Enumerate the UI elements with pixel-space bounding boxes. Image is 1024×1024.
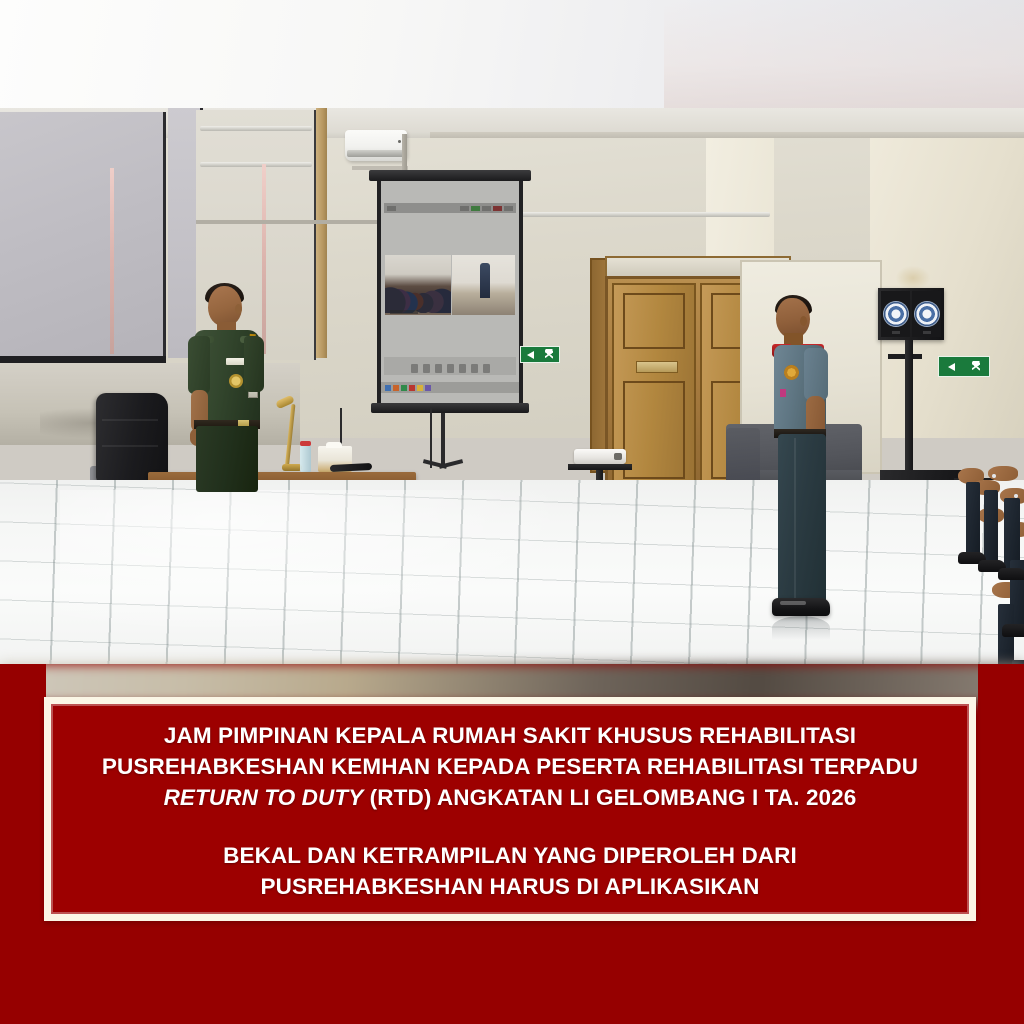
speaker-port — [892, 331, 900, 334]
vc-control-icon — [459, 364, 466, 373]
bottle-cap — [300, 441, 311, 446]
speaker-driver-icon — [915, 302, 939, 326]
microphone-base — [282, 464, 302, 471]
officer-sleeve-left — [188, 336, 210, 394]
door-panel — [623, 381, 685, 479]
whiteboard — [0, 112, 166, 358]
army-officer — [186, 286, 270, 491]
exit-arrow-icon — [527, 351, 534, 359]
projector — [574, 449, 626, 464]
vc-control-icon — [411, 364, 418, 373]
blind-rail — [200, 162, 312, 167]
door-push-plate[interactable] — [636, 361, 678, 373]
caption-line-3: RETURN TO DUTY (RTD) ANGKATAN LI GELOMBA… — [164, 782, 857, 813]
officer-trousers — [778, 434, 826, 602]
caption-line-4: BEKAL DAN KETRAMPILAN YANG DIPEROLEH DAR… — [223, 840, 797, 871]
vc-control-icon — [423, 364, 430, 373]
presenter-figure — [480, 263, 490, 298]
participant-shoe — [1002, 624, 1024, 637]
vc-badge — [504, 206, 513, 211]
running-man-icon — [545, 349, 553, 360]
caption-line-1: JAM PIMPINAN KEPALA RUMAH SAKIT KHUSUS R… — [164, 720, 856, 751]
speaker-stand-pole — [905, 340, 913, 470]
poster-root: JAM PIMPINAN KEPALA RUMAH SAKIT KHUSUS R… — [0, 0, 1024, 1024]
footer-red-band — [0, 921, 1024, 1024]
participant-ring — [992, 474, 996, 478]
taskbar-app-icon — [401, 385, 407, 391]
caption-inner-frame: JAM PIMPINAN KEPALA RUMAH SAKIT KHUSUS R… — [51, 704, 969, 914]
wooden-post — [316, 108, 327, 358]
vc-badge — [460, 206, 469, 211]
vc-badge-green — [471, 206, 480, 211]
header-gradient — [664, 0, 1024, 108]
vc-pane-audience — [385, 255, 451, 315]
ac-indicator-led — [398, 140, 401, 143]
caption-line-5: PUSREHABKESHAN HARUS DI APLIKASIKAN — [261, 871, 760, 902]
air-conditioner — [345, 130, 407, 161]
ac-vent — [347, 150, 405, 157]
event-photograph — [0, 108, 1024, 664]
speaker-cabinet — [881, 291, 910, 337]
projection-screen — [375, 170, 525, 420]
vc-badge — [482, 206, 491, 211]
speaker-driver-icon — [884, 302, 908, 326]
exit-sign — [938, 356, 990, 377]
unit-patch — [784, 365, 799, 380]
wall-stain — [896, 266, 930, 290]
vc-toolbar-bottom — [384, 357, 516, 375]
caption-italic-term: RETURN TO DUTY — [164, 785, 364, 810]
header-bar — [0, 0, 1024, 108]
office-chair-back — [96, 393, 168, 483]
vc-video-panes — [385, 255, 515, 315]
vertical-pole — [110, 168, 114, 354]
running-man-icon — [972, 361, 980, 372]
navy-officer — [770, 298, 840, 642]
officer-sleeve-right — [244, 336, 264, 392]
floor-reflection — [60, 490, 580, 640]
caption-box: JAM PIMPINAN KEPALA RUMAH SAKIT KHUSUS R… — [44, 697, 976, 921]
vc-control-icon — [471, 364, 478, 373]
video-conference-display — [381, 181, 519, 403]
vc-toolbar-top — [384, 203, 516, 213]
participant-leg — [966, 482, 980, 558]
speaker-port — [923, 331, 931, 334]
officer-shoes — [772, 598, 830, 616]
vc-control-icon — [435, 364, 442, 373]
participants-row — [958, 464, 1024, 664]
screen-top-case — [369, 170, 531, 181]
tiled-floor — [0, 480, 1024, 664]
officer-trousers — [196, 426, 258, 492]
side-chair — [726, 428, 760, 488]
taskbar-app-icon — [417, 385, 423, 391]
screen-bottom-bar — [371, 403, 529, 413]
projector-lens — [614, 453, 622, 460]
officer-badge — [229, 374, 243, 388]
shoe-highlight — [780, 601, 806, 605]
caption-line-2: PUSREHABKESHAN KEMHAN KEPADA PESERTA REH… — [102, 751, 918, 782]
water-bottle — [300, 445, 311, 473]
taskbar-app-icon — [393, 385, 399, 391]
door-panel — [623, 293, 685, 349]
exit-arrow-icon — [948, 363, 955, 371]
vc-badge-red — [493, 206, 502, 211]
handheld-microphone — [330, 463, 372, 472]
caption-line-3-rest: (RTD) ANGKATAN LI GELOMBANG I TA. 2026 — [363, 785, 856, 810]
vc-pane-label — [390, 310, 418, 314]
participant-shoe — [998, 568, 1024, 580]
trouser-crease — [794, 438, 796, 598]
vc-control-icon — [447, 364, 454, 373]
officer-badge — [780, 389, 786, 397]
taskbar-app-icon — [425, 385, 431, 391]
screen-surface — [377, 181, 523, 403]
speaker-cabinet — [912, 291, 941, 337]
officer-ear — [235, 304, 242, 314]
screen-cable — [430, 408, 438, 468]
whiteboard-tray — [0, 356, 166, 363]
os-taskbar — [381, 382, 519, 393]
officer-ear — [800, 316, 807, 326]
chair-crease — [102, 419, 158, 421]
screen-tripod-leg — [441, 413, 445, 465]
photo-scene — [0, 108, 1024, 664]
pa-speakers-top — [878, 288, 944, 340]
vc-badge — [387, 206, 396, 211]
blind-rail — [200, 126, 312, 131]
vc-pane-presenter — [452, 255, 515, 315]
taskbar-app-icon — [409, 385, 415, 391]
exit-sign — [520, 346, 560, 363]
chair-crease — [102, 445, 158, 447]
participant-leg — [984, 490, 998, 564]
taskbar-app-icon — [385, 385, 391, 391]
vc-control-icon — [483, 364, 490, 373]
tissue-sheet — [326, 442, 342, 448]
officer-sleeve — [804, 348, 828, 400]
floor-reflection-officer — [772, 616, 830, 640]
